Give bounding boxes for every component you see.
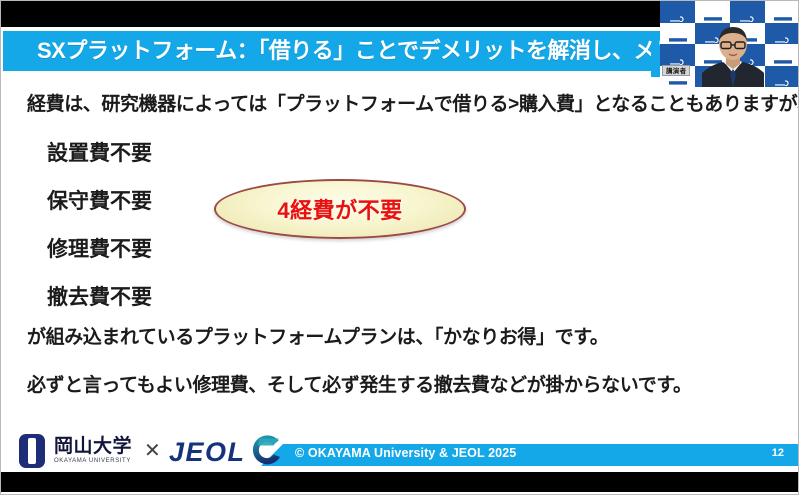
virtual-background-tile	[765, 44, 799, 66]
virtual-background-logo-icon	[739, 9, 757, 15]
callout-ellipse: 4経費が不要	[214, 179, 466, 239]
virtual-background-tile	[660, 23, 695, 45]
virtual-background-logo-icon	[774, 30, 792, 36]
virtual-background-logo-icon	[704, 9, 722, 15]
letterbox-bottom	[1, 472, 799, 492]
slide-canvas: SXプラットフォーム：「借りる」ことでデメリットを解消し、メリットを最 経費は、…	[1, 27, 799, 472]
video-participant-tile[interactable]: 講演者	[660, 1, 799, 87]
virtual-background-tile	[730, 1, 765, 23]
jeol-logo: JEOL	[169, 435, 284, 469]
fee-item: 設置費不要	[47, 137, 152, 167]
jeol-swoosh-icon	[248, 435, 284, 469]
okayama-mark-icon	[19, 434, 45, 468]
lead-paragraph: 経費は、研究機器によっては「プラットフォームで借りる>購入費」となることもありま…	[27, 89, 799, 116]
speaker-name-label: 講演者	[662, 65, 690, 76]
copyright-text: © OKAYAMA University & JEOL 2025	[295, 446, 516, 460]
virtual-background-tile	[695, 1, 730, 23]
virtual-background-tile	[660, 1, 695, 23]
okayama-name-en: OKAYAMA UNIVERSITY	[54, 457, 132, 466]
virtual-background-tile	[660, 44, 695, 66]
okayama-name-ja: 岡山大学	[54, 437, 132, 457]
virtual-background-logo-icon	[774, 73, 792, 79]
virtual-background-logo-icon	[669, 9, 687, 15]
okayama-wordmark: 岡山大学 OKAYAMA UNIVERSITY	[54, 437, 132, 466]
fee-item: 保守費不要	[47, 185, 152, 215]
page-number: 12	[772, 447, 784, 459]
plan-paragraph: が組み込まれているプラットフォームプランは、「かなりお得」です。	[27, 322, 609, 349]
jeol-wordmark: JEOL	[169, 438, 246, 466]
virtual-background-tile	[765, 66, 799, 88]
virtual-background-logo-icon	[774, 9, 792, 15]
cross-separator-icon: ✕	[144, 441, 161, 461]
footer-bar: © OKAYAMA University & JEOL 2025 12	[261, 444, 798, 466]
fee-item: 修理費不要	[47, 233, 152, 263]
fee-item: 撤去費不要	[47, 281, 152, 311]
virtual-background-logo-icon	[774, 52, 792, 58]
virtual-background-logo-icon	[669, 30, 687, 36]
callout-label: 4経費が不要	[216, 181, 464, 237]
okayama-university-logo: 岡山大学 OKAYAMA UNIVERSITY ✕	[19, 431, 161, 471]
presenter-figure	[700, 21, 766, 87]
virtual-background-tile	[765, 23, 799, 45]
virtual-background-logo-icon	[669, 52, 687, 58]
repair-paragraph: 必ずと言ってもよい修理費、そして必ず発生する撤去費などが掛からないです。	[27, 370, 692, 397]
slide-frame: SXプラットフォーム：「借りる」ことでデメリットを解消し、メリットを最 経費は、…	[0, 0, 799, 495]
virtual-background-tile	[765, 1, 799, 23]
